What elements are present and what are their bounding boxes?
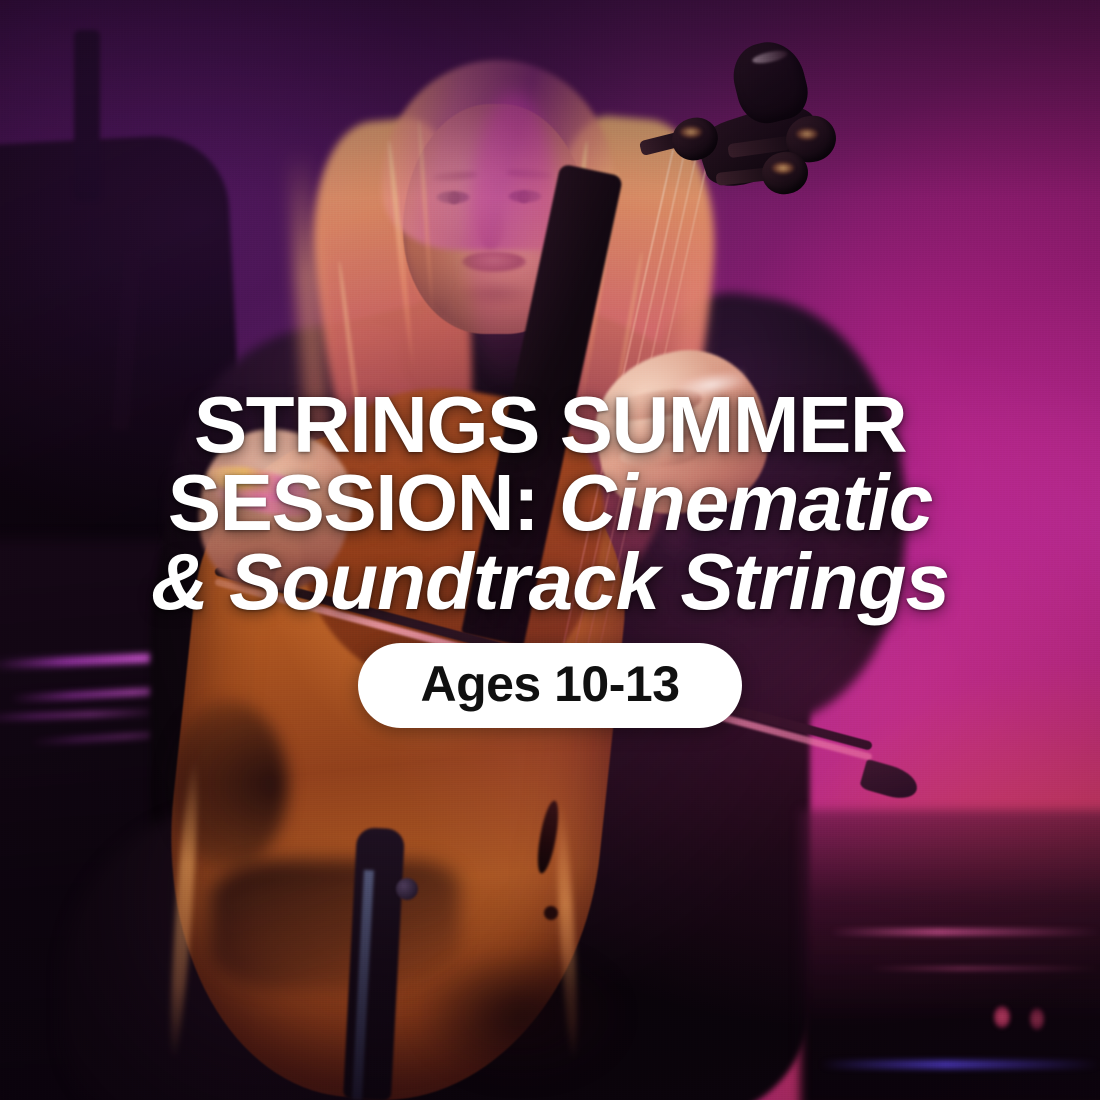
headline-line-2-emphasis: Cinematic [559,458,932,547]
headline-line-2: SESSION: Cinematic [110,464,990,542]
promo-poster: STRINGS SUMMER SESSION: Cinematic & Soun… [0,0,1100,1100]
headline: STRINGS SUMMER SESSION: Cinematic & Soun… [110,386,990,621]
age-range-badge[interactable]: Ages 10-13 [358,643,741,728]
headline-line-1: STRINGS SUMMER [110,386,990,464]
headline-line-2-plain: SESSION: [168,458,538,547]
headline-line-3: & Soundtrack Strings [110,543,990,621]
